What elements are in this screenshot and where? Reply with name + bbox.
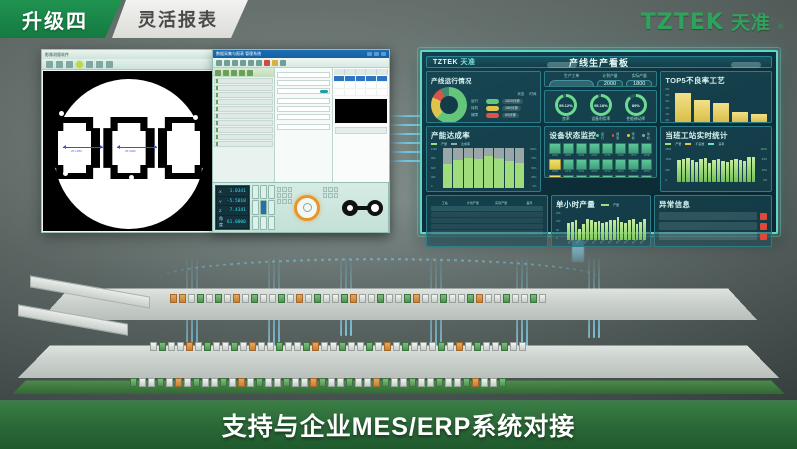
equipment-tile[interactable]: OP18: [563, 175, 574, 178]
factory-machine-row-bottom: [130, 378, 506, 387]
line-status-content: 状态 时间 运行 1620分钟 待机 180分钟: [431, 87, 536, 123]
open-icon[interactable]: [224, 60, 230, 66]
equipment-tile[interactable]: OP14: [615, 159, 626, 173]
column-header: [356, 69, 367, 75]
table-header: [334, 69, 388, 75]
header-pill-right: [731, 62, 761, 68]
dimension-label: 25.3262: [125, 149, 136, 153]
table-row[interactable]: [431, 212, 543, 217]
maximize-icon[interactable]: [374, 52, 379, 56]
bar: [620, 222, 623, 240]
bar: [717, 159, 720, 182]
add-icon[interactable]: [215, 70, 221, 76]
list-item[interactable]: [214, 134, 273, 140]
card-hourly-output[interactable]: 单小时产量 产量 250 150 50 0: [551, 195, 651, 247]
dimension-line: [63, 147, 103, 148]
y-axis-right: 100% 75% 50% 25% 0%: [528, 148, 536, 188]
bar: [699, 159, 702, 182]
y-axis: 250 150 50 0: [556, 212, 564, 240]
card-line-status[interactable]: 产线运行情况 状态 时间 运行 1620分钟: [426, 71, 541, 123]
legend-label: 运行: [601, 132, 607, 140]
table-row[interactable]: [431, 206, 543, 211]
card-title: 单小时产量: [556, 199, 595, 210]
table-row[interactable]: [431, 218, 543, 223]
equipment-tile[interactable]: OP02: [563, 143, 574, 157]
settings-icon[interactable]: [106, 61, 113, 68]
aux-button[interactable]: [328, 193, 332, 198]
aux-button-grid[interactable]: [323, 185, 338, 230]
column-header: 工站: [431, 201, 458, 205]
table-header-row: 工站 计划产量 实际产量 差异: [431, 201, 543, 205]
aux-button[interactable]: [334, 193, 338, 198]
gauge-yield: 95.12% 良率: [549, 94, 582, 122]
column-header: [377, 69, 388, 75]
bar: [567, 223, 570, 240]
legend-item: 运行 1620分钟: [471, 99, 536, 104]
gauge-label: 设备利用率: [591, 117, 610, 122]
axis-label: Y: [219, 199, 222, 204]
equipment-tile[interactable]: OP06: [615, 143, 626, 157]
dimension-label: 25.1250: [71, 149, 82, 153]
legend-label: 产量: [613, 203, 619, 207]
equipment-tile[interactable]: OP17: [549, 175, 560, 178]
alarm-severity-icon: [760, 213, 767, 220]
card-capacity-rate[interactable]: 产能达成率 产量 达成率 1200 900 600 300 0 100%: [426, 126, 541, 192]
bottom-caption-banner: 支持与企业MES/ERP系统对接: [0, 400, 797, 449]
coordinate-angle: 角度 61.0000: [217, 216, 248, 228]
top5-bar-chart: 5%4%3%2%1%0%: [665, 88, 767, 122]
gauge-label: 性能稼动率: [626, 117, 645, 122]
gauge-ring: 89%: [625, 94, 647, 116]
light-cell[interactable]: [282, 193, 286, 198]
jog-down-left-button[interactable]: [252, 216, 259, 230]
property-toggle[interactable]: [277, 88, 330, 94]
card-title: 产线运行情况: [431, 75, 536, 85]
aux-button[interactable]: [334, 187, 338, 192]
bar: [747, 157, 750, 182]
station-table[interactable]: 工站 计划产量 实际产量 差异: [431, 201, 543, 235]
bar: [691, 160, 694, 182]
legend-item: 待机 180分钟: [471, 106, 536, 111]
equipment-tile[interactable]: OP23: [628, 175, 639, 178]
report-window-titlebar[interactable]: 数据采集与报表 管理系统: [213, 50, 389, 58]
jog-settings-button[interactable]: [268, 185, 275, 199]
bar: [464, 148, 473, 188]
part-preview: [340, 185, 386, 230]
table-row[interactable]: [334, 83, 388, 89]
kpi-row: 生产工单 WO-20230815 计划产量 2000 实际产量 1800: [549, 74, 652, 87]
bar: [721, 161, 724, 182]
jog-home-button[interactable]: [260, 200, 267, 214]
bar: [443, 148, 452, 188]
bar: [639, 222, 642, 240]
card-equipment-status[interactable]: 设备状态监控 运行 报警 待机 停机 OP01 OP02 OP03 OP04 O…: [544, 126, 657, 178]
legend-swatch: [486, 113, 499, 118]
alarm-text: [659, 232, 757, 240]
export-icon[interactable]: [280, 60, 286, 66]
equipment-tile[interactable]: OP24: [641, 175, 652, 178]
legend-label: 产量: [675, 142, 681, 146]
legend-label: 待机: [471, 106, 483, 111]
capacity-legend: 产量 达成率: [431, 142, 536, 146]
part-outline-icon: [340, 198, 386, 218]
table-row[interactable]: [431, 224, 543, 229]
alarm-text: [659, 222, 757, 230]
bar: [505, 148, 514, 188]
list-item[interactable]: [214, 127, 273, 133]
list-item[interactable]: [214, 92, 273, 98]
dial-knob-icon[interactable]: [303, 203, 312, 212]
bar: [730, 160, 733, 182]
axis-value: -5.5018: [227, 199, 246, 204]
report-toolbar[interactable]: [213, 58, 389, 68]
bar: [712, 160, 715, 182]
factory-3d-illustration: [0, 250, 797, 400]
kpi-plan-output: 计划产量 2000: [597, 74, 623, 87]
feature-dot: [193, 115, 198, 120]
coordinate-y: Y -5.5018: [217, 197, 248, 206]
card-title: 产能达成率: [431, 130, 536, 141]
property-field[interactable]: [277, 80, 330, 86]
coordinate-x: X 1.0341: [217, 187, 248, 196]
hourly-legend: 产量: [601, 203, 619, 207]
property-field[interactable]: [277, 114, 330, 120]
delete-icon[interactable]: [264, 60, 270, 66]
upgrade-tag-label: 升级四: [22, 5, 88, 34]
legend-value: 1620分钟: [502, 99, 523, 104]
equipment-tile[interactable]: OP09: [549, 159, 560, 173]
legend-label: 停机: [647, 132, 653, 140]
bar: [515, 148, 524, 188]
gauge-value: 89%: [632, 103, 640, 108]
bar: [686, 158, 689, 182]
kpi-actual-output: 实际产量 1800: [626, 74, 652, 87]
copy-icon[interactable]: [231, 70, 237, 76]
bar: [605, 222, 608, 240]
bar: [739, 160, 742, 182]
equipment-tile-grid[interactable]: OP01 OP02 OP03 OP04 OP05 OP06 OP07 OP08 …: [549, 143, 652, 178]
bar: [677, 160, 680, 182]
gauge-row: 95.12% 良率 95.18% 设备利用率 89%: [549, 94, 652, 122]
aux-button[interactable]: [323, 193, 327, 198]
light-cell[interactable]: [288, 199, 292, 204]
card-station-table[interactable]: 工站 计划产量 实际产量 差异: [426, 195, 548, 247]
alarm-item[interactable]: [659, 212, 767, 220]
table-row[interactable]: [334, 76, 388, 82]
minimize-icon[interactable]: [367, 52, 372, 56]
window-title: 影像测量软件: [45, 52, 69, 58]
card-title: 当班工站实时统计: [665, 130, 767, 141]
equipment-tile[interactable]: OP10: [563, 159, 574, 173]
column-header: [345, 69, 356, 75]
equipment-tile[interactable]: OP11: [576, 159, 587, 173]
top5-x-labels: 工序01 工序02 工序03 工序04 工序05: [665, 122, 767, 123]
axis-label: Z: [219, 208, 221, 213]
dashboard-column-left: 产线运行情况 状态 时间 运行 1620分钟: [426, 71, 541, 192]
gauge-ring: 95.18%: [590, 94, 612, 116]
equipment-tile[interactable]: OP05: [602, 143, 613, 157]
axis-value: 7.4341: [230, 208, 246, 213]
legend-label: 待机: [632, 132, 638, 140]
legend-label: 达成率: [461, 142, 470, 146]
equipment-legend: 运行 报警 待机 停机: [596, 132, 652, 140]
machine-control-bar[interactable]: X 1.0341 Y -5.5018 Z 7.4341 角度 61.0000: [212, 182, 389, 233]
new-icon[interactable]: [216, 60, 222, 66]
legend-value: 180分钟: [502, 106, 521, 111]
equipment-tile[interactable]: OP16: [641, 159, 652, 173]
bar: [743, 161, 746, 182]
aux-button[interactable]: [323, 187, 327, 192]
equipment-tile[interactable]: OP12: [589, 159, 600, 173]
card-alarms[interactable]: 异常信息: [654, 195, 772, 247]
legend-headers: 状态 时间: [471, 92, 536, 97]
dashboard-header: TZTEK 天准 产线生产看板: [426, 56, 772, 68]
window-controls[interactable]: [367, 52, 386, 56]
part-block: [158, 117, 209, 179]
jog-speed-button[interactable]: [268, 216, 275, 230]
jog-dial[interactable]: [294, 195, 320, 221]
part-block: [49, 117, 100, 179]
equipment-tile[interactable]: OP08: [641, 143, 652, 157]
bar: [474, 148, 483, 188]
equipment-tile[interactable]: OP21: [602, 175, 613, 178]
bar: [484, 148, 493, 188]
equipment-tile[interactable]: OP13: [602, 159, 613, 173]
equipment-tile[interactable]: OP07: [628, 143, 639, 157]
light-cell[interactable]: [277, 193, 281, 198]
axis-value: 61.0000: [227, 220, 246, 225]
bar: [598, 221, 601, 240]
jog-dial-container[interactable]: [294, 185, 320, 230]
bar: [613, 220, 616, 240]
kpi-label: 实际产量: [632, 74, 647, 79]
light-cell[interactable]: [277, 199, 281, 204]
bar: [575, 220, 578, 240]
card-top5-defect[interactable]: TOP5不良率工艺 5%4%3%2%1%0% 工序01 工序02: [660, 71, 772, 123]
dashboard-bottom-row: 工站 计划产量 实际产量 差异 单小时产量 产量: [426, 195, 772, 247]
alarm-item[interactable]: [659, 222, 767, 230]
capacity-bars: [443, 148, 524, 188]
equipment-tile[interactable]: OP04: [589, 143, 600, 157]
part-block: [103, 117, 154, 179]
y-axis-left: 2500 1500 500 0: [665, 148, 673, 182]
list-item[interactable]: [214, 106, 273, 112]
gauge-utilization: 95.18% 设备利用率: [584, 94, 617, 122]
bar: [494, 148, 503, 188]
feature-dot: [111, 111, 116, 116]
section-tag: 灵活报表: [112, 0, 248, 38]
upgrade-tag: 升级四: [0, 0, 122, 38]
list-item[interactable]: [214, 141, 273, 147]
equipment-tile[interactable]: OP03: [576, 143, 587, 157]
light-control-grid[interactable]: [277, 185, 292, 230]
card-title: TOP5不良率工艺: [665, 75, 767, 86]
column-header: [366, 69, 377, 75]
card-kpi[interactable]: 生产工单 WO-20230815 计划产量 2000 实际产量 1800: [544, 71, 657, 87]
folder-icon[interactable]: [223, 70, 229, 76]
factory-machine-row-top: [170, 294, 546, 303]
chart-icon[interactable]: [256, 60, 262, 66]
station-bars: [677, 148, 755, 182]
light-cell[interactable]: [288, 187, 292, 192]
equipment-tile[interactable]: OP01: [549, 143, 560, 157]
legend-label: 良率: [718, 142, 724, 146]
axis-label: X: [219, 189, 222, 194]
highlight-tool-icon[interactable]: [76, 61, 83, 68]
property-field[interactable]: [277, 98, 330, 104]
y-axis-right: 100% 60% 20% 0%: [759, 148, 767, 182]
table-row[interactable]: [431, 230, 543, 235]
kpi-work-order: 生产工单 WO-20230815: [549, 74, 593, 87]
equipment-tile[interactable]: OP20: [589, 175, 600, 178]
property-field[interactable]: [277, 106, 330, 112]
measure-icon[interactable]: [66, 61, 73, 68]
card-title: 异常信息: [659, 199, 767, 210]
jog-pad[interactable]: [252, 185, 275, 230]
factory-machine-row-mid: [150, 342, 526, 351]
card-station-stats[interactable]: 当班工站实时统计 产量 不良数 良率 2500 1500 500 0 100%: [660, 126, 772, 192]
cursor-icon[interactable]: [46, 61, 53, 68]
line-status-legend: 状态 时间 运行 1620分钟 待机 180分钟: [471, 92, 536, 118]
coordinate-readout: X 1.0341 Y -5.5018 Z 7.4341 角度 61.0000: [215, 185, 250, 230]
table-row[interactable]: [334, 90, 388, 96]
bar: [752, 157, 755, 183]
axis-value: 1.0341: [230, 189, 246, 194]
legend-label: 不良数: [695, 142, 704, 146]
list-item[interactable]: [214, 120, 273, 126]
bar: [726, 162, 729, 182]
list-item[interactable]: [214, 99, 273, 105]
card-gauges[interactable]: 95.12% 良率 95.18% 设备利用率 89%: [544, 90, 657, 123]
dashboard-title: 产线生产看板: [427, 56, 771, 69]
jog-up-left-button[interactable]: [252, 185, 259, 199]
zoom-icon[interactable]: [56, 61, 63, 68]
legend-label: 运行: [471, 99, 483, 104]
equipment-tile[interactable]: OP15: [628, 159, 639, 173]
hourly-bar-chart: 250 150 50 0: [556, 212, 646, 240]
bar: [704, 158, 707, 182]
legend-swatch: [486, 99, 499, 104]
column-header: [334, 69, 345, 75]
bar: [632, 219, 635, 240]
bar: [682, 159, 685, 182]
stop-icon[interactable]: [248, 60, 254, 66]
tree-toolbar[interactable]: [213, 68, 274, 77]
close-icon[interactable]: [381, 52, 386, 56]
gauge-value: 95.18%: [594, 103, 608, 108]
kpi-label: 计划产量: [602, 74, 617, 79]
aux-button[interactable]: [328, 187, 332, 192]
up-icon[interactable]: [239, 70, 245, 76]
warning-icon[interactable]: [272, 60, 278, 66]
jog-left-button[interactable]: [252, 200, 259, 214]
jog-right-button[interactable]: [268, 200, 275, 214]
equipment-tile[interactable]: OP22: [615, 175, 626, 178]
bar: [628, 220, 631, 240]
capacity-bar-chart: 1200 900 600 300 0 100% 75% 50% 25% 0%: [431, 148, 536, 188]
dimension-line: [117, 147, 157, 148]
light-cell[interactable]: [288, 193, 292, 198]
hourly-x-labels: 08:00 10:00 12:00 14:00 16:00 18:00 20:0…: [556, 240, 646, 243]
alarm-text: [659, 212, 757, 220]
dashboard-body: 产线运行情况 状态 时间 运行 1620分钟: [426, 71, 772, 192]
kpi-label: 生产工单: [564, 74, 579, 79]
vision-image-canvas[interactable]: 25.1250 25.3262: [43, 71, 215, 231]
alarm-severity-icon: [760, 233, 767, 240]
bar: [708, 163, 711, 182]
column-header: 计划产量: [459, 201, 486, 205]
card-title: 设备状态监控: [549, 130, 596, 141]
alarm-item[interactable]: [659, 232, 767, 240]
column-header: 差异: [516, 201, 543, 205]
jog-up-button[interactable]: [260, 185, 267, 199]
legend-header-time: 时间: [529, 92, 536, 97]
list-item[interactable]: [214, 78, 273, 84]
bar: [695, 162, 698, 182]
bar: [453, 148, 462, 188]
brand-logo-en: TZTEK: [641, 10, 724, 35]
down-icon[interactable]: [247, 70, 253, 76]
light-icon[interactable]: [96, 61, 103, 68]
run-icon[interactable]: [240, 60, 246, 66]
grid-icon[interactable]: [86, 61, 93, 68]
bar: [590, 220, 593, 240]
report-window-title: 数据采集与报表 管理系统: [216, 51, 261, 57]
bar: [582, 224, 585, 240]
gauge-value: 95.12%: [559, 103, 573, 108]
kpi-value: WO-20230815: [549, 80, 593, 87]
legend-item: 故障 60分钟: [471, 113, 536, 118]
production-dashboard[interactable]: TZTEK 天准 产线生产看板 产线运行情况 状态 时间 运: [420, 50, 778, 234]
measured-part: [49, 117, 209, 179]
bottom-caption-text: 支持与企业MES/ERP系统对接: [222, 407, 576, 443]
equipment-tile[interactable]: OP19: [576, 175, 587, 178]
save-icon[interactable]: [232, 60, 238, 66]
legend-swatch: [486, 106, 499, 111]
gauge-ring: 95.12%: [555, 94, 577, 116]
feature-dot: [155, 109, 160, 114]
jog-down-button[interactable]: [260, 216, 267, 230]
header-pill-left: [547, 62, 577, 68]
dashboard-column-right: TOP5不良率工艺 5%4%3%2%1%0% 工序01 工序02: [660, 71, 772, 192]
light-cell[interactable]: [277, 187, 281, 192]
bar: [734, 159, 737, 182]
line-status-donut-chart: [431, 87, 467, 123]
list-item[interactable]: [214, 113, 273, 119]
legend-value: 60分钟: [502, 113, 519, 118]
property-field[interactable]: [277, 72, 330, 78]
property-field[interactable]: [277, 124, 330, 130]
light-cell[interactable]: [282, 187, 286, 192]
section-tag-label: 灵活报表: [138, 6, 218, 32]
gauge-label: 良率: [562, 117, 570, 122]
y-axis: 5%4%3%2%1%0%: [665, 88, 673, 122]
light-cell[interactable]: [282, 199, 286, 204]
gauge-performance: 89% 性能稼动率: [619, 94, 652, 122]
y-axis-left: 1200 900 600 300 0: [431, 148, 439, 188]
hourly-bars: [567, 212, 646, 240]
dashboard-column-center: 生产工单 WO-20230815 计划产量 2000 实际产量 1800: [544, 71, 657, 192]
axis-label: 角度: [219, 216, 227, 228]
coordinate-z: Z 7.4341: [217, 206, 248, 215]
alarm-severity-icon: [760, 223, 767, 230]
legend-label: 故障: [471, 113, 483, 118]
registered-trademark-icon: ®: [778, 24, 783, 31]
list-item[interactable]: [214, 85, 273, 91]
station-bar-chart: 2500 1500 500 0 100% 60% 20% 0%: [665, 148, 767, 182]
legend-label: 报警: [616, 132, 622, 140]
legend-header-state: 状态: [517, 92, 524, 97]
